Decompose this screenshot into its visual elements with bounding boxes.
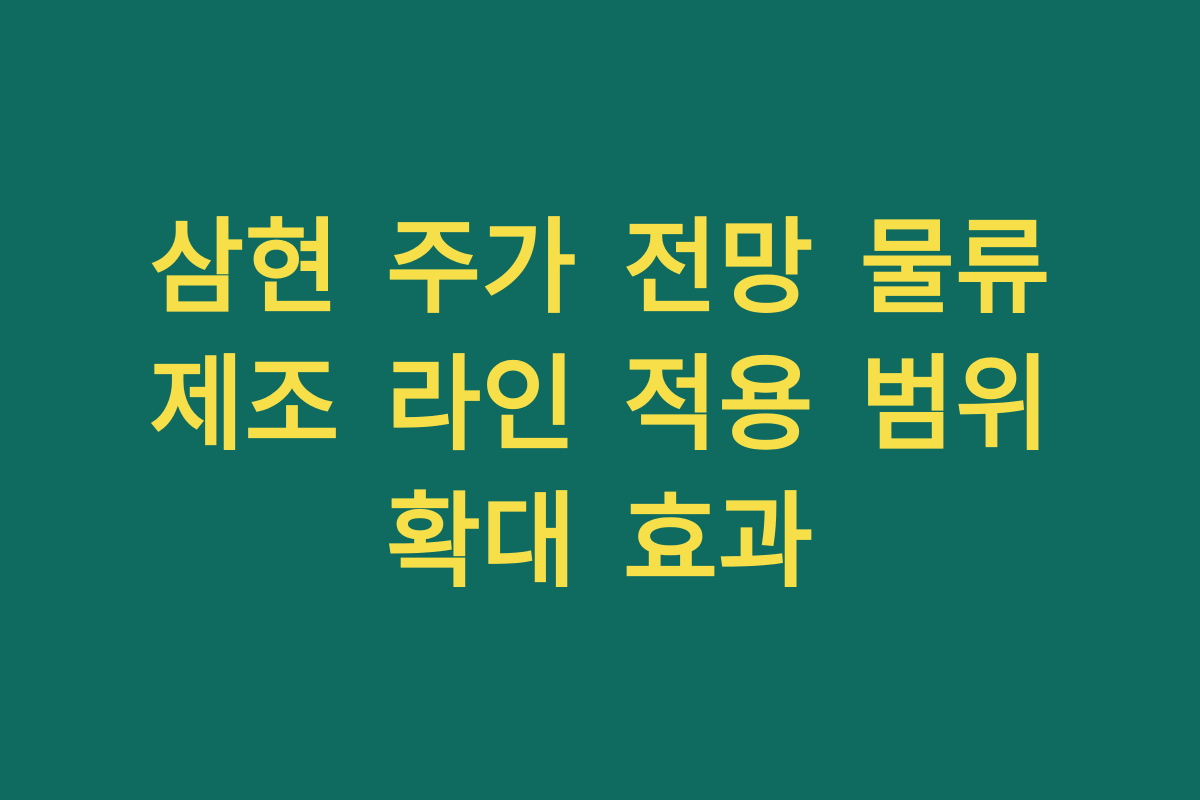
page-title: 삼현 주가 전망 물류 제조 라인 적용 범위 확대 효과 bbox=[95, 200, 1105, 611]
title-block: 삼현 주가 전망 물류 제조 라인 적용 범위 확대 효과 bbox=[95, 200, 1105, 611]
title-card-banner: 삼현 주가 전망 물류 제조 라인 적용 범위 확대 효과 bbox=[0, 0, 1200, 800]
